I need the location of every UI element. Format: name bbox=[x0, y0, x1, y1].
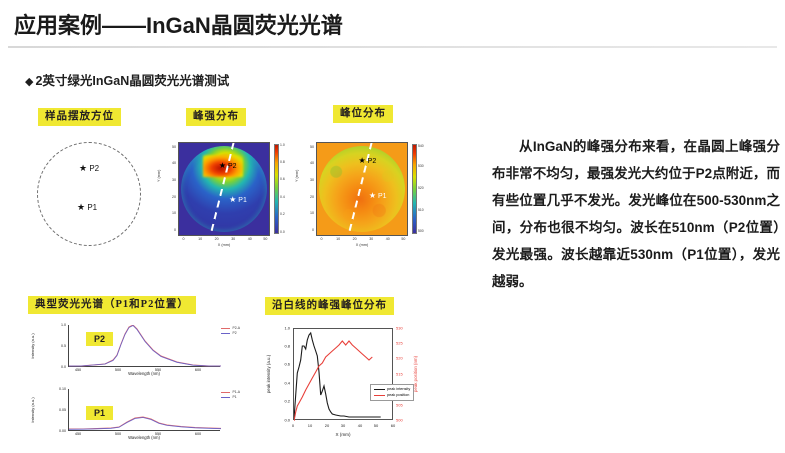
spectrum-p2-xtick-2: 500 bbox=[115, 368, 121, 372]
linescan-xtick-0: 0 bbox=[292, 423, 294, 428]
marker-p2-position: ★ P2 bbox=[359, 156, 377, 165]
spectrum-chart-p1: Intensity (a.u.) 0.10 0.05 0.00 450 500 … bbox=[22, 386, 254, 446]
spectrum-p1-ytick-mid: 0.05 bbox=[48, 408, 66, 412]
marker-p1-intensity: ★ P1 bbox=[229, 195, 247, 204]
heatmap-position-yticks: 0 10 20 30 40 50 bbox=[298, 142, 315, 236]
marker-p2-intensity: ★ P2 bbox=[219, 161, 237, 170]
spectrum-p2-xtick-4: 600 bbox=[195, 368, 201, 372]
linescan-chart: peak intensity (a.u.) peak position (nm)… bbox=[258, 320, 418, 450]
linescan-ytick-r-4: 520 bbox=[396, 356, 412, 361]
colorbar-position-ticks: 500 510 520 530 540 bbox=[418, 140, 434, 238]
spectrum-p1-ytick-top: 0.10 bbox=[48, 387, 66, 391]
peak-intensity-heatmap: Y (mm) 0 10 20 30 40 50 ★ P2 ★ P1 0 10 2… bbox=[158, 136, 303, 256]
title-divider bbox=[8, 46, 777, 48]
inset-label-p2: P2 bbox=[86, 332, 113, 346]
analysis-paragraph: 从InGaN的峰强分布来看，在晶圆上峰强分布非常不均匀，最强发光大约位于P2点附… bbox=[492, 133, 780, 295]
page-title: 应用案例——InGaN晶圆荧光光谱 bbox=[14, 8, 343, 40]
spectrum-chart-p2: Intensity (a.u.) 1.0 0.5 0.0 450 500 550… bbox=[22, 322, 254, 382]
legend-swatch-icon bbox=[374, 389, 385, 390]
marker-p1-label: P1 bbox=[87, 203, 97, 212]
spectrum-p1-xtick-1: 450 bbox=[75, 432, 81, 436]
section-subheading: ◆2英寸绿光InGaN晶圆荧光光谱测试 bbox=[25, 70, 229, 89]
wafer-position-field: ★ P2 ★ P1 bbox=[319, 146, 405, 232]
caption-linescan: 沿白线的峰强峰位分布 bbox=[265, 297, 394, 315]
linescan-xtick-2: 20 bbox=[325, 423, 329, 428]
caption-typical-spectra: 典型荧光光谱（P1和P2位置） bbox=[28, 296, 196, 314]
heatmap-intensity-yticks: 0 10 20 30 40 50 bbox=[160, 142, 177, 236]
legend-swatch-icon bbox=[374, 395, 385, 396]
linescan-xtick-5: 50 bbox=[374, 423, 378, 428]
legend-swatch-icon bbox=[221, 392, 230, 393]
linescan-ytick-l-5: 1.0 bbox=[272, 326, 290, 331]
spectrum-p1-xtick-2: 500 bbox=[115, 432, 121, 436]
legend-entry-peak-position: peak position bbox=[374, 393, 410, 399]
spectrum-p2-ytick-mid: 0.5 bbox=[48, 344, 66, 348]
spectrum-p1-xtick-4: 600 bbox=[195, 432, 201, 436]
star-icon: ★ bbox=[77, 202, 85, 212]
heatmap-intensity-plot-area: ★ P2 ★ P1 bbox=[178, 142, 270, 236]
spectrum-p2-ytick-top: 1.0 bbox=[48, 323, 66, 327]
trace-peak-position bbox=[294, 341, 372, 421]
caption-peak-position-map: 峰位分布 bbox=[333, 105, 393, 123]
linescan-ytick-l-2: 0.4 bbox=[272, 381, 290, 386]
marker-p1-label: P1 bbox=[238, 197, 247, 204]
caption-peak-intensity-map: 峰强分布 bbox=[186, 108, 246, 126]
star-icon: ★ bbox=[229, 195, 236, 204]
inset-label-p1: P1 bbox=[86, 406, 113, 420]
linescan-xlabel: X (mm) bbox=[335, 432, 350, 437]
colorbar-intensity-ticks: 0.0 0.2 0.4 0.6 0.8 1.0 bbox=[280, 140, 296, 238]
marker-p1-label: P1 bbox=[378, 193, 387, 200]
wafer-intensity-field: ★ P2 ★ P1 bbox=[181, 146, 267, 232]
heatmap-position-plot-area: ★ P2 ★ P1 bbox=[316, 142, 408, 236]
linescan-ytick-r-5: 525 bbox=[396, 341, 412, 346]
spectrum-p2-ylabel: Intensity (a.u.) bbox=[30, 333, 35, 358]
peak-position-heatmap: Y (mm) 0 10 20 30 40 50 ★ P2 ★ P1 0 10 2… bbox=[296, 136, 441, 256]
typical-spectra-panel: Intensity (a.u.) 1.0 0.5 0.0 450 500 550… bbox=[22, 322, 254, 448]
marker-p2-label: P2 bbox=[228, 163, 237, 170]
legend-swatch-icon bbox=[221, 397, 230, 398]
linescan-xtick-1: 10 bbox=[308, 423, 312, 428]
spectrum-p1-ytick-bot: 0.00 bbox=[48, 429, 66, 433]
caption-sample-orientation: 样品摆放方位 bbox=[38, 108, 121, 126]
marker-p1-position: ★ P1 bbox=[369, 191, 387, 200]
spectrum-p2-legend: P2-A P2 bbox=[221, 326, 240, 336]
linescan-ytick-l-1: 0.2 bbox=[272, 399, 290, 404]
wafer-orientation-diagram: ★ P2 ★ P1 bbox=[23, 136, 151, 256]
heatmap-intensity-xlabel: X (mm) bbox=[218, 243, 230, 247]
diamond-bullet-icon: ◆ bbox=[25, 76, 33, 88]
linescan-traces bbox=[294, 329, 394, 421]
linescan-ylabel-left: peak intensity (a.u.) bbox=[266, 355, 271, 393]
spectrum-p1-legend: P1-A P1 bbox=[221, 390, 240, 400]
spectrum-p2-xtick-1: 450 bbox=[75, 368, 81, 372]
section-subheading-label: 2英寸绿光InGaN晶圆荧光光谱测试 bbox=[35, 74, 229, 88]
colorbar-intensity bbox=[274, 144, 279, 234]
wafer-edge-glow bbox=[181, 146, 267, 232]
linescan-plot-area: peak intensity peak position bbox=[293, 328, 393, 420]
marker-p1-sketch: ★ P1 bbox=[77, 202, 97, 213]
linescan-legend: peak intensity peak position bbox=[370, 384, 414, 401]
legend-swatch-icon bbox=[221, 333, 230, 334]
marker-p2-label: P2 bbox=[89, 164, 99, 173]
marker-p2-label: P2 bbox=[368, 158, 377, 165]
spectrum-p2-xlabel: Wavelength (nm) bbox=[128, 371, 160, 376]
linescan-ytick-l-4: 0.8 bbox=[272, 344, 290, 349]
linescan-xtick-4: 40 bbox=[358, 423, 362, 428]
linescan-ytick-r-6: 530 bbox=[396, 326, 412, 331]
spectrum-p1-ylabel: Intensity (a.u.) bbox=[30, 397, 35, 422]
legend-swatch-icon bbox=[221, 328, 230, 329]
heatmap-position-xlabel: X (mm) bbox=[356, 243, 368, 247]
star-icon: ★ bbox=[359, 156, 366, 165]
linescan-ytick-r-3: 515 bbox=[396, 372, 412, 377]
wafer-outline-dashed bbox=[37, 142, 141, 246]
linescan-xtick-3: 30 bbox=[341, 423, 345, 428]
legend-entry-p2: P2 bbox=[221, 331, 240, 336]
spectrum-p1-xlabel: Wavelength (nm) bbox=[128, 435, 160, 440]
spectrum-p2-ytick-bot: 0.0 bbox=[48, 365, 66, 369]
legend-entry-p1: P1 bbox=[221, 395, 240, 400]
star-icon: ★ bbox=[219, 161, 226, 170]
marker-p2-sketch: ★ P2 bbox=[79, 163, 99, 174]
linescan-ytick-r-0: 500 bbox=[396, 418, 412, 423]
linescan-ytick-r-1: 505 bbox=[396, 403, 412, 408]
star-icon: ★ bbox=[369, 191, 376, 200]
linescan-xtick-6: 60 bbox=[391, 423, 395, 428]
colorbar-position bbox=[412, 144, 417, 234]
star-icon: ★ bbox=[79, 163, 87, 173]
linescan-ytick-l-3: 0.6 bbox=[272, 362, 290, 367]
linescan-ytick-l-0: 0.0 bbox=[272, 418, 290, 423]
